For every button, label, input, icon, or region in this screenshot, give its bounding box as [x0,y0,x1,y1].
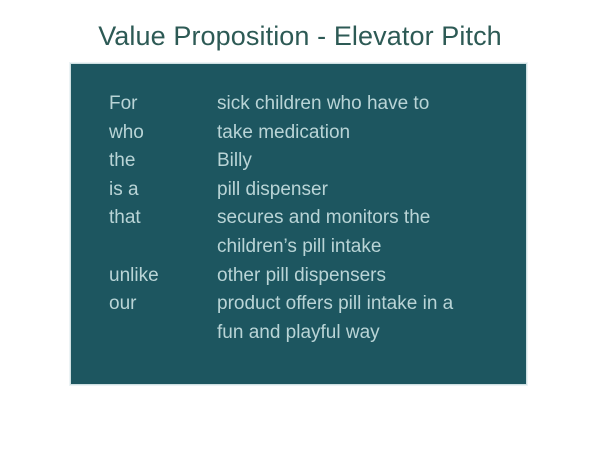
pitch-value: sick children who have to [217,90,453,119]
pitch-label: unlike [109,262,217,291]
table-row: our product offers pill intake in a [109,290,453,319]
pitch-value: product offers pill intake in a [217,290,453,319]
table-row: is a pill dispenser [109,176,453,205]
pitch-label: who [109,119,217,148]
pitch-value: children’s pill intake [217,233,453,262]
pitch-label: our [109,290,217,319]
pitch-value: take medication [217,119,453,148]
table-row: that secures and monitors the [109,204,453,233]
table-row: the Billy [109,147,453,176]
page-title: Value Proposition - Elevator Pitch [0,20,600,52]
value-proposition-box: For sick children who have to who take m… [70,63,527,385]
table-row: unlike other pill dispensers [109,262,453,291]
pitch-label: For [109,90,217,119]
pitch-label: the [109,147,217,176]
pitch-label: that [109,204,217,233]
pitch-label [109,233,217,262]
elevator-pitch-body: For sick children who have to who take m… [109,90,453,347]
elevator-pitch-table: For sick children who have to who take m… [109,90,453,347]
table-row: fun and playful way [109,319,453,348]
table-row: For sick children who have to [109,90,453,119]
pitch-label [109,319,217,348]
pitch-value: other pill dispensers [217,262,453,291]
slide: Value Proposition - Elevator Pitch For s… [0,0,600,450]
pitch-value: pill dispenser [217,176,453,205]
pitch-label: is a [109,176,217,205]
pitch-value: Billy [217,147,453,176]
pitch-value: secures and monitors the [217,204,453,233]
table-row: who take medication [109,119,453,148]
table-row: children’s pill intake [109,233,453,262]
pitch-value: fun and playful way [217,319,453,348]
